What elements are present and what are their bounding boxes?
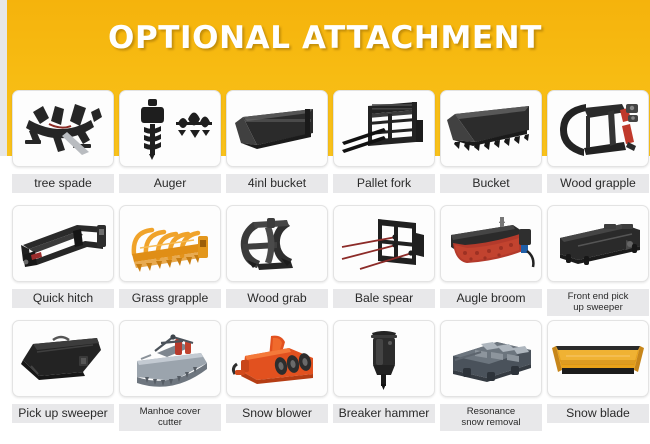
front-end-pick-up-sweeper-icon: [548, 216, 648, 272]
attachment-cell-grass-grapple[interactable]: Grass grapple: [119, 205, 221, 320]
attachment-image-card[interactable]: [12, 90, 114, 167]
snow-blower-icon: [227, 330, 327, 388]
attachment-image-card[interactable]: [333, 320, 435, 397]
attachment-cell-breaker-hammer[interactable]: Breaker hammer: [333, 320, 435, 435]
attachment-image-card[interactable]: [119, 320, 221, 397]
attachment-cell-wood-grab[interactable]: Wood grab: [226, 205, 328, 320]
attachment-cell-pick-up-sweeper[interactable]: Pick up sweeper: [12, 320, 114, 435]
attachment-label: Pick up sweeper: [12, 404, 114, 423]
attachment-label: 4inl bucket: [226, 174, 328, 193]
attachment-image-card[interactable]: [119, 205, 221, 282]
attachment-cell-bale-spear[interactable]: Bale spear: [333, 205, 435, 320]
attachment-image-card[interactable]: [226, 90, 328, 167]
pallet-fork-icon: [334, 98, 434, 160]
attachment-label: Resonance snow removal: [440, 404, 542, 431]
attachment-label: tree spade: [12, 174, 114, 193]
attachment-label: Wood grab: [226, 289, 328, 308]
attachment-grid: tree spade: [12, 90, 640, 435]
attachment-cell-pallet-fork[interactable]: Pallet fork: [333, 90, 435, 205]
attachment-image-card[interactable]: [119, 90, 221, 167]
resonance-snow-removal-icon: [441, 330, 541, 388]
bale-spear-icon: [334, 213, 434, 275]
attachment-image-card[interactable]: [333, 90, 435, 167]
attachment-image-card[interactable]: [440, 205, 542, 282]
attachment-cell-snow-blade[interactable]: Snow blade: [547, 320, 649, 435]
attachment-cell-front-end-pick-up-sweeper[interactable]: Front end pick up sweeper: [547, 205, 649, 320]
attachment-image-card[interactable]: [547, 90, 649, 167]
auger-icon: [122, 97, 218, 161]
tree-spade-icon: [15, 98, 111, 160]
breaker-hammer-icon: [354, 327, 414, 391]
augle-broom-icon: [441, 215, 541, 273]
attachment-cell-snow-blower[interactable]: Snow blower: [226, 320, 328, 435]
attachment-image-card[interactable]: [440, 90, 542, 167]
attachment-label: Grass grapple: [119, 289, 221, 308]
attachment-cell-wood-grapple[interactable]: Wood grapple: [547, 90, 649, 205]
wood-grapple-icon: [550, 98, 646, 160]
attachment-cell-manhole-cover-cutter[interactable]: Manhoe cover cutter: [119, 320, 221, 435]
snow-blade-icon: [548, 334, 648, 384]
attachment-cell-quick-hitch[interactable]: Quick hitch: [12, 205, 114, 320]
attachment-image-card[interactable]: [226, 320, 328, 397]
attachment-image-card[interactable]: [547, 320, 649, 397]
attachment-label: Wood grapple: [547, 174, 649, 193]
attachment-image-card[interactable]: [12, 320, 114, 397]
attachment-label: Snow blade: [547, 404, 649, 423]
quick-hitch-icon: [13, 215, 113, 273]
bucket-icon: [441, 100, 541, 158]
four-in-one-bucket-icon: [227, 99, 327, 159]
attachment-image-card[interactable]: [333, 205, 435, 282]
attachment-label: Breaker hammer: [333, 404, 435, 423]
attachment-label: Pallet fork: [333, 174, 435, 193]
attachment-label: Front end pick up sweeper: [547, 289, 649, 316]
attachment-label: Auger: [119, 174, 221, 193]
pick-up-sweeper-icon: [13, 330, 113, 388]
attachment-cell-tree-spade[interactable]: tree spade: [12, 90, 114, 205]
grass-grapple-icon: [120, 214, 220, 274]
attachment-label: Bucket: [440, 174, 542, 193]
attachment-cell-4inl-bucket[interactable]: 4inl bucket: [226, 90, 328, 205]
attachment-cell-augle-broom[interactable]: Augle broom: [440, 205, 542, 320]
attachment-cell-auger[interactable]: Auger: [119, 90, 221, 205]
attachment-cell-resonance-snow-removal[interactable]: Resonance snow removal: [440, 320, 542, 435]
optional-attachment-page: OPTIONAL ATTACHMENT: [0, 0, 650, 444]
wood-grab-icon: [231, 214, 323, 274]
attachment-label: Bale spear: [333, 289, 435, 308]
attachment-image-card[interactable]: [547, 205, 649, 282]
attachment-label: Quick hitch: [12, 289, 114, 308]
page-title: OPTIONAL ATTACHMENT: [0, 20, 650, 56]
attachment-cell-bucket[interactable]: Bucket: [440, 90, 542, 205]
manhole-cover-cutter-icon: [121, 329, 219, 389]
attachment-image-card[interactable]: [226, 205, 328, 282]
attachment-label: Manhoe cover cutter: [119, 404, 221, 431]
attachment-label: Snow blower: [226, 404, 328, 423]
attachment-label: Augle broom: [440, 289, 542, 308]
attachment-image-card[interactable]: [440, 320, 542, 397]
attachment-image-card[interactable]: [12, 205, 114, 282]
